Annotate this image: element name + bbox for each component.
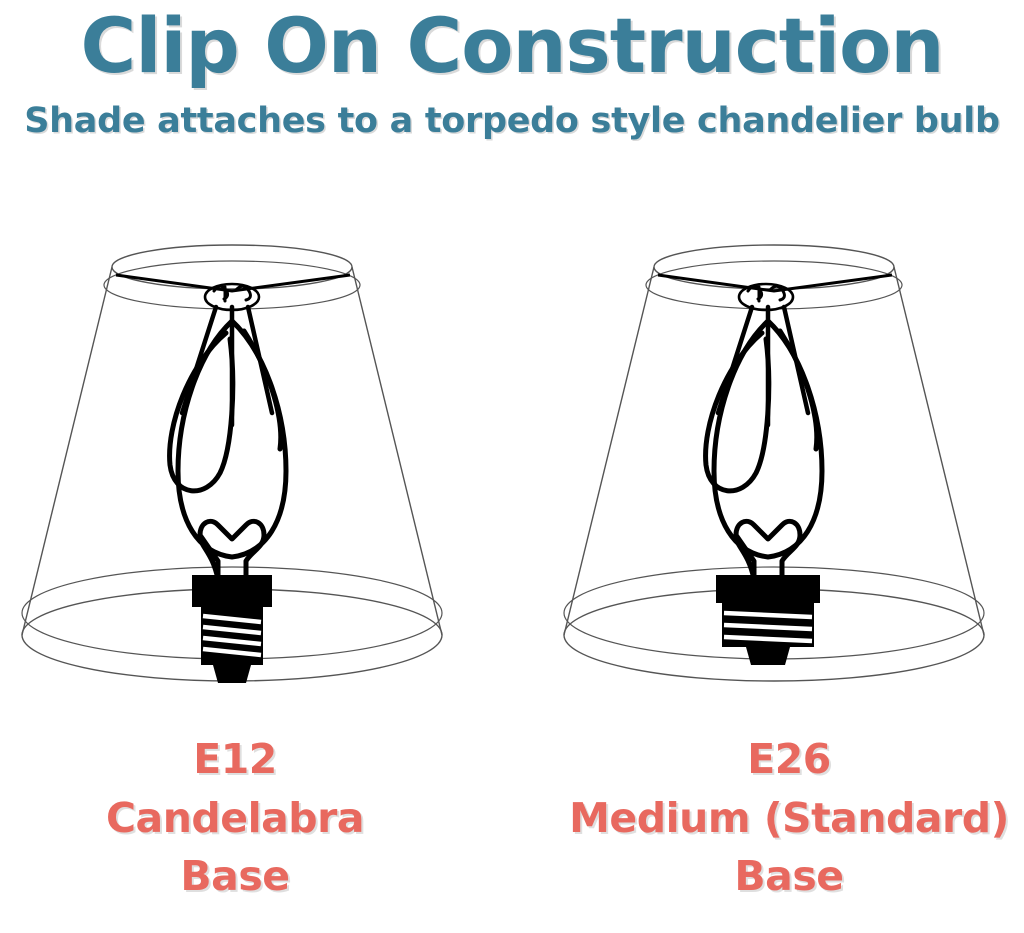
figure-e26: [556, 235, 1016, 715]
filament-e12: [200, 521, 264, 579]
filament-e26: [736, 521, 800, 579]
caption-e12-line-1: E12: [0, 730, 470, 789]
caption-e26-line-1: E26: [554, 730, 1024, 789]
infographic-canvas: Clip On Construction Shade attaches to a…: [0, 0, 1024, 933]
caption-e26-line-2: Medium (Standard): [554, 789, 1024, 848]
caption-row: E12 Candelabra Base E26 Medium (Standard…: [0, 730, 1024, 930]
caption-e12-line-3: Base: [0, 847, 470, 906]
caption-e12: E12 Candelabra Base: [0, 730, 470, 906]
caption-e12-line-2: Candelabra: [0, 789, 470, 848]
page-subtitle: Shade attaches to a torpedo style chande…: [0, 84, 1024, 139]
figure-row: [0, 235, 1024, 715]
e26-screw-base: [716, 575, 820, 665]
figure-e12: [4, 235, 464, 715]
caption-e26-line-3: Base: [554, 847, 1024, 906]
e12-screw-base: [192, 575, 272, 683]
caption-e26: E26 Medium (Standard) Base: [554, 730, 1024, 906]
header: Clip On Construction Shade attaches to a…: [0, 0, 1024, 139]
page-title: Clip On Construction: [0, 0, 1024, 84]
